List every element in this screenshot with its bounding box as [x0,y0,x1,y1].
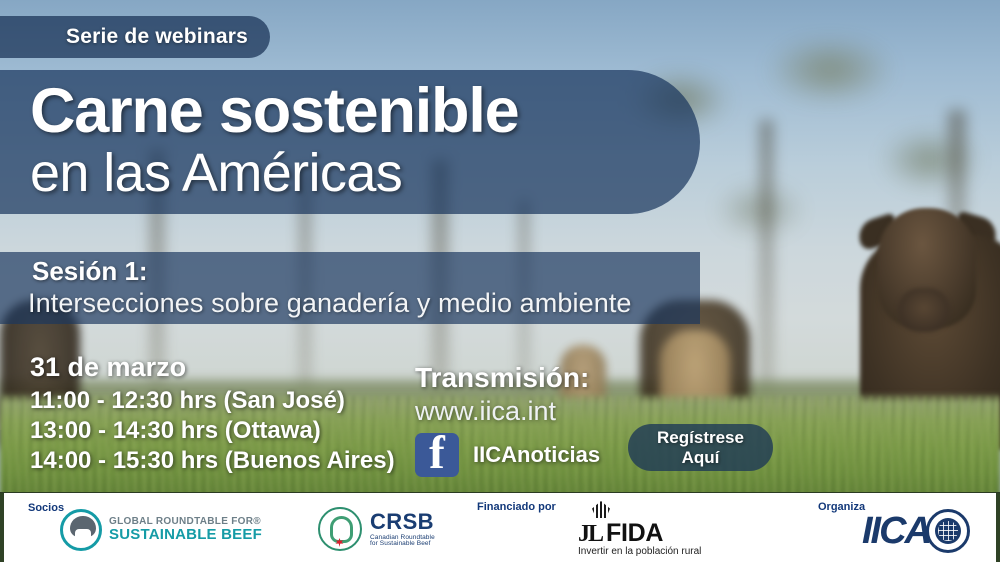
title-line-1: Carne sostenible [30,75,518,147]
stream-title: Transmisión: [415,362,600,394]
grsb-line-2: SUSTAINABLE BEEF [109,527,262,542]
schedule-block: 31 de marzo 11:00 - 12:30 hrs (San José)… [30,352,395,475]
fida-wordmark: JL FIDA [578,519,663,548]
iica-logo: IICA [862,509,970,553]
stream-url[interactable]: www.iica.int [415,396,600,427]
crsb-acronym: CRSB [370,511,435,533]
facebook-handle[interactable]: IICAnoticias [473,442,600,468]
iica-globe-seal-icon [926,509,970,553]
fida-name: FIDA [606,519,663,548]
grsb-wordmark: GLOBAL ROUNDTABLE FOR® SUSTAINABLE BEEF [109,517,262,542]
partners-label: Socios [28,502,64,514]
maple-leaf-icon [335,538,344,547]
register-button[interactable]: Regístrese Aquí [628,424,773,471]
session-subtitle: Intersecciones sobre ganadería y medio a… [28,288,632,319]
register-button-line-1: Regístrese [657,428,744,448]
grsb-cow-icon [60,509,102,551]
time-row: 14:00 - 15:30 hrs (Buenos Aires) [30,446,395,476]
facebook-row[interactable]: IICAnoticias [415,433,600,477]
fida-arabic-mark: JL [578,521,602,548]
iica-wordmark: IICA [862,510,930,553]
page-title: Carne sostenible en las Américas [30,70,690,214]
crsb-cow-icon [318,507,362,551]
time-row: 13:00 - 14:30 hrs (Ottawa) [30,416,395,446]
footer-bar: Socios Financiado por Organiza GLOBAL RO… [0,492,1000,562]
facebook-icon[interactable] [415,433,459,477]
tree-trunk [760,120,773,410]
crsb-logo: CRSB Canadian Roundtable for Sustainable… [318,507,435,551]
series-badge-label: Serie de webinars [66,25,248,49]
cow-muzzle [898,288,950,332]
wheat-sheaf-icon [592,501,610,518]
stream-block: Transmisión: www.iica.int IICAnoticias [415,362,600,477]
fida-tagline: Invertir en la población rural [578,546,701,557]
time-row: 11:00 - 12:30 hrs (San José) [30,386,395,416]
register-button-line-2: Aquí [682,448,720,468]
funded-label: Financiado por [477,501,556,513]
webinar-poster: Serie de webinars Carne sostenible en la… [0,0,1000,562]
crsb-line-2: for Sustainable Beef [370,541,435,548]
grsb-logo: GLOBAL ROUNDTABLE FOR® SUSTAINABLE BEEF [60,509,262,551]
event-date: 31 de marzo [30,352,395,383]
crsb-wordmark: CRSB Canadian Roundtable for Sustainable… [370,511,435,548]
organizer-label: Organiza [818,501,865,513]
session-label: Sesión 1: [32,256,148,287]
title-line-2: en las Américas [30,142,402,204]
series-badge: Serie de webinars [0,16,270,58]
